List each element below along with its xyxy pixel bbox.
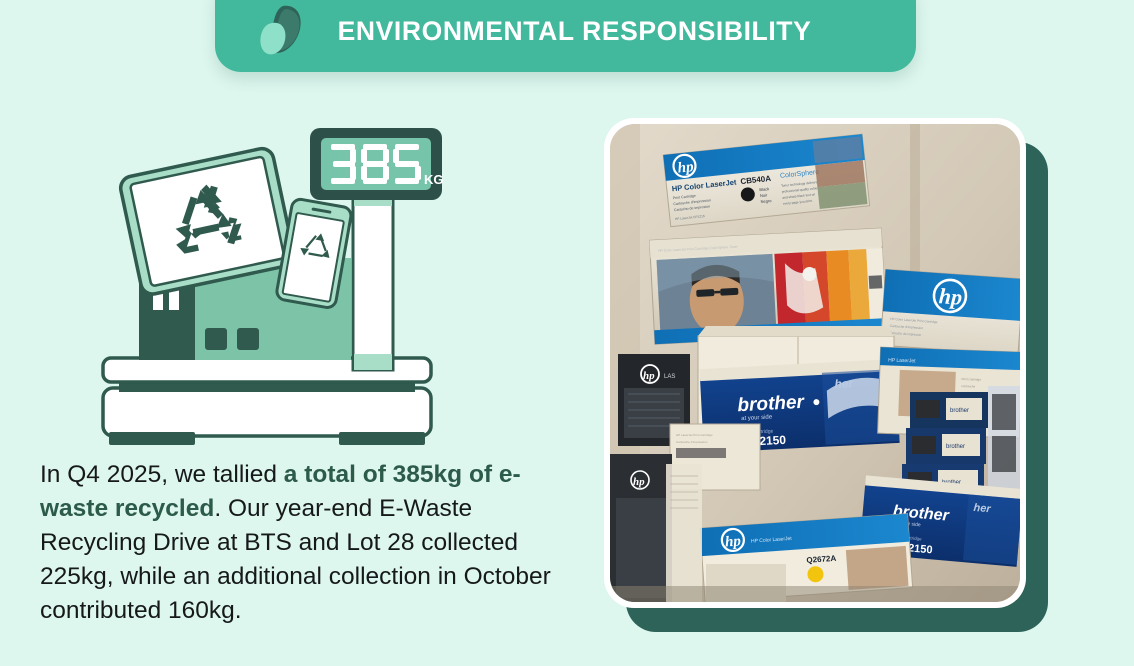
svg-text:Cartouche: Cartouche — [961, 384, 975, 388]
svg-text:hp: hp — [938, 283, 963, 310]
svg-text:Print Cartridge: Print Cartridge — [962, 377, 982, 382]
photo-container: hp HP Color LaserJet Print Cartridge Car… — [604, 118, 1026, 608]
svg-text:hp: hp — [677, 159, 695, 177]
svg-text:HP LaserJet Print Cartridge: HP LaserJet Print Cartridge — [676, 433, 713, 437]
svg-text:brother: brother — [946, 444, 965, 450]
svg-text:Cartouche d'impression: Cartouche d'impression — [676, 440, 708, 444]
ewaste-photo: hp HP Color LaserJet Print Cartridge Car… — [610, 124, 1020, 602]
paragraph-segment-lead: In Q4 2025, we tallied — [40, 461, 284, 488]
summary-paragraph: In Q4 2025, we tallied a total of 385kg … — [40, 458, 570, 628]
weighing-scale-illustration: KG — [95, 120, 515, 450]
svg-text:hp: hp — [633, 476, 645, 488]
svg-text:hp: hp — [724, 533, 741, 550]
svg-text:Noir: Noir — [760, 192, 768, 198]
svg-text:hp: hp — [643, 370, 655, 382]
svg-text:Black: Black — [759, 186, 769, 192]
svg-text:brother: brother — [737, 392, 806, 417]
page-title: ENVIRONMENTAL RESPONSIBILITY — [313, 16, 916, 47]
butterfly-leaf-logo-icon — [251, 0, 313, 62]
svg-text:her: her — [834, 376, 855, 391]
svg-text:HP LaserJet: HP LaserJet — [888, 357, 916, 364]
photo-frame: hp HP Color LaserJet Print Cartridge Car… — [604, 118, 1026, 608]
banner-inner: ENVIRONMENTAL RESPONSIBILITY — [215, 0, 916, 62]
svg-text:brother: brother — [950, 408, 969, 414]
svg-text:her: her — [973, 502, 992, 516]
scale-unit-label: KG — [424, 172, 444, 187]
svg-text:LAS: LAS — [664, 374, 675, 380]
header-banner: ENVIRONMENTAL RESPONSIBILITY — [215, 0, 916, 72]
